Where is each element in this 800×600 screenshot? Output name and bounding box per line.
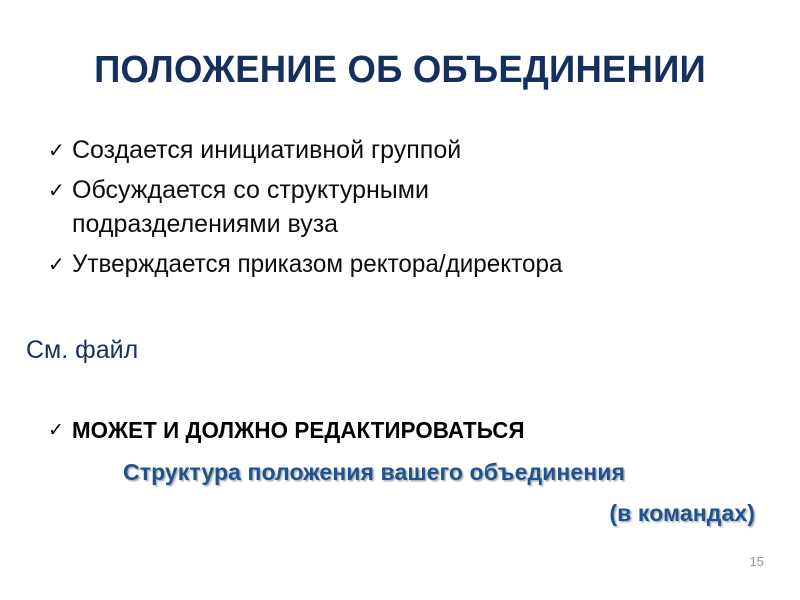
list-item-label: Обсуждается со структурными подразделени… (72, 173, 502, 241)
list-item: ✓ Обсуждается со структурными подразделе… (48, 173, 748, 241)
see-file-note: См. файл (26, 334, 138, 366)
page-number: 15 (750, 554, 764, 570)
check-icon: ✓ (48, 133, 72, 167)
structure-heading: Структура положения вашего объединения (123, 456, 755, 488)
page-title: ПОЛОЖЕНИЕ ОБ ОБЪЕДИНЕНИИ (54, 48, 745, 92)
list-item-label: Создается инициативной группой (72, 133, 502, 167)
emphasis-list-item: ✓ МОЖЕТ И ДОЛЖНО РЕДАКТИРОВАТЬСЯ (48, 415, 748, 445)
list-item: ✓ Утверждается приказом ректора/директор… (48, 247, 748, 281)
list-item: ✓ Создается инициативной группой (48, 133, 748, 167)
slide: ПОЛОЖЕНИЕ ОБ ОБЪЕДИНЕНИИ ✓ Создается ини… (0, 0, 800, 600)
check-icon: ✓ (48, 415, 72, 445)
teams-subheading: (в командах) (123, 497, 755, 529)
bullet-list: ✓ Создается инициативной группой ✓ Обсуж… (48, 133, 748, 287)
emphasis-list-item-label: МОЖЕТ И ДОЛЖНО РЕДАКТИРОВАТЬСЯ (72, 415, 525, 445)
check-icon: ✓ (48, 247, 72, 281)
list-item-label: Утверждается приказом ректора/директора (72, 247, 712, 281)
check-icon: ✓ (48, 173, 72, 207)
